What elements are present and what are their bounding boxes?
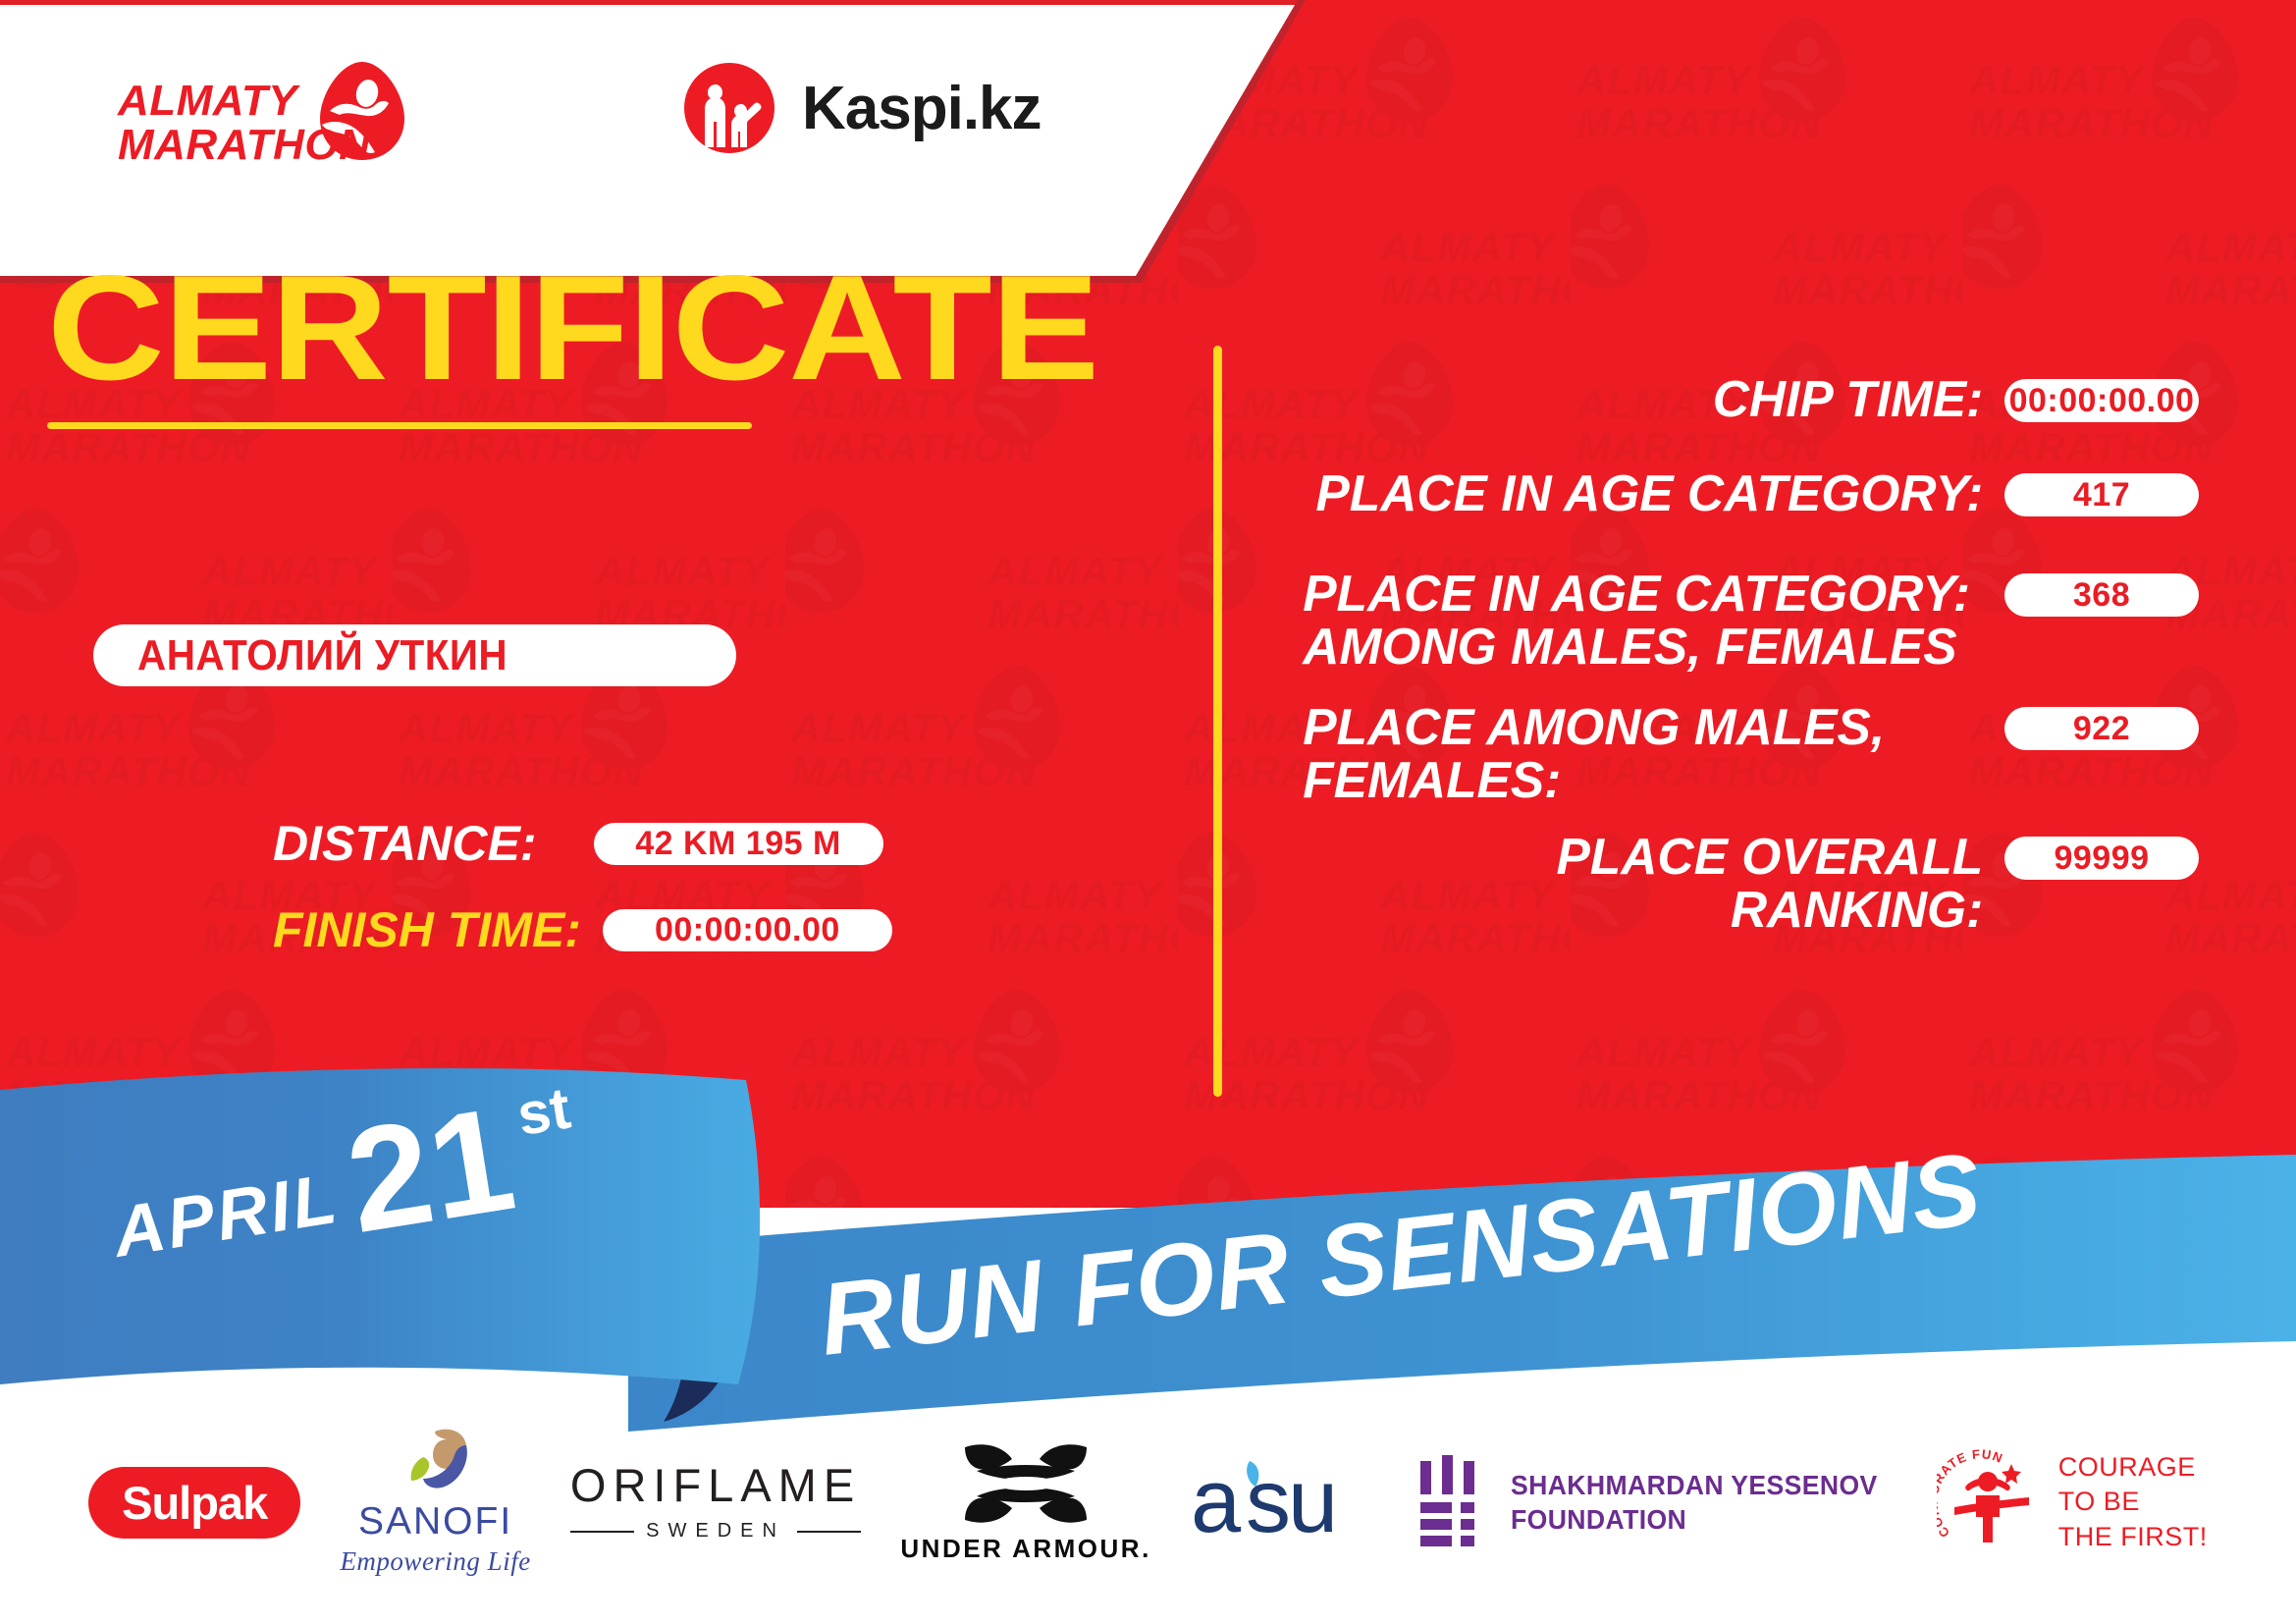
stat-label-line: PLACE IN AGE CATEGORY: [1303,568,1983,621]
stat-value: 417 [2004,473,2199,516]
stat-value: 922 [2004,707,2199,750]
sponsor-sulpak: Sulpak [88,1467,300,1539]
svg-text:a: a [1191,1455,1242,1549]
sanofi-tagline: Empowering Life [340,1546,530,1577]
stat-row: PLACE IN AGE CATEGORY:AMONG MALES, FEMAL… [1296,568,2199,674]
finish-time-value: 00:00:00.00 [603,909,892,951]
sulpak-label: Sulpak [88,1467,300,1539]
kaspi-label: Kaspi.kz [802,74,1041,143]
yessenov-bars-icon [1416,1455,1485,1549]
finish-time-row: FINISH TIME: 00:00:00.00 [273,901,892,958]
stat-label-line: FEMALES: [1303,754,1983,807]
sponsor-strip: Sulpak SANOFI Empowering Life ORIFLAME S… [0,1404,2296,1600]
left-column: CERTIFICATE АНАТОЛИЙ УТКИН DISTANCE: 42 … [0,283,1207,1208]
courage-line2: TO BE [2058,1485,2208,1519]
kaspi-logo[interactable]: Kaspi.kz [682,61,1041,155]
stat-row: PLACE IN AGE CATEGORY:417 [1296,467,2199,520]
kaspi-people-circle-icon [682,61,776,155]
courage-label: COURAGE TO BE THE FIRST! [2058,1450,2208,1553]
courage-line1: COURAGE [2058,1450,2208,1485]
oriflame-label: ORIFLAME [570,1462,861,1508]
sponsor-under-armour: UNDER ARMOUR. [900,1441,1150,1564]
stat-label-line: PLACE OVERALL RANKING: [1303,831,1983,937]
page-title: CERTIFICATE [47,253,1098,403]
svg-text:su: su [1246,1455,1335,1549]
ribbon-fold [664,1255,736,1422]
corporate-fund-arc-label: CORPORATE FUND [1937,1448,2005,1541]
under-armour-label: UNDER ARMOUR. [900,1534,1150,1564]
yessenov-label-line1: SHAKHMARDAN YESSENOV [1511,1468,1878,1502]
stat-label: PLACE AMONG MALES,FEMALES: [1303,701,2004,807]
almaty-logo-line1: ALMATY [118,80,370,124]
almaty-marathon-logo: ALMATY MARATHON [118,54,432,172]
yessenov-label: SHAKHMARDAN YESSENOV FOUNDATION [1511,1468,1878,1537]
svg-text:CORPORATE FUND: CORPORATE FUND [1937,1448,2005,1541]
stat-label-line: AMONG MALES, FEMALES [1303,621,1983,674]
sponsor-oriflame: ORIFLAME SWEDEN [570,1462,861,1543]
stat-label: CHIP TIME: [1303,373,2004,426]
distance-row: DISTANCE: 42 KM 195 M [273,815,883,872]
oriflame-sub-label: SWEDEN [634,1520,797,1543]
stat-label-line: PLACE AMONG MALES, [1303,701,1983,754]
courage-fund-icon: CORPORATE FUND [1937,1448,2045,1556]
stat-value: 00:00:00.00 [2004,379,2199,422]
oriflame-rule-right [797,1531,861,1533]
asu-logo-icon: a su [1191,1455,1377,1549]
stat-label-line: PLACE IN AGE CATEGORY: [1303,467,1983,520]
stat-row: PLACE AMONG MALES,FEMALES:922 [1296,701,2199,807]
oriflame-rule-left [570,1531,634,1533]
stat-row: CHIP TIME:00:00:00.00 [1296,373,2199,426]
yessenov-label-line2: FOUNDATION [1511,1502,1878,1537]
sponsor-yessenov-foundation: SHAKHMARDAN YESSENOV FOUNDATION [1416,1455,1896,1549]
sanofi-mark-icon [394,1428,478,1498]
distance-label: DISTANCE: [273,815,537,872]
runner-name-value: АНАТОЛИЙ УТКИН [137,631,507,680]
stat-label-line: CHIP TIME: [1303,373,1983,426]
stat-label: PLACE OVERALL RANKING: [1303,831,2004,937]
under-armour-icon [957,1441,1095,1526]
title-underline [47,422,752,429]
finish-time-label: FINISH TIME: [273,901,581,958]
stat-label: PLACE IN AGE CATEGORY: [1303,467,2004,520]
stat-value: 368 [2004,573,2199,617]
runner-name-field: АНАТОЛИЙ УТКИН [93,624,736,686]
distance-value: 42 KM 195 M [594,823,883,865]
stat-label: PLACE IN AGE CATEGORY:AMONG MALES, FEMAL… [1303,568,2004,674]
column-divider [1213,346,1222,1097]
sponsor-sanofi: SANOFI Empowering Life [340,1428,530,1577]
sponsor-courage-fund: CORPORATE FUND COURAGE TO BE THE FIRST! [1937,1448,2208,1556]
almaty-logo-line2: MARATHON [118,124,370,168]
sanofi-label: SANOFI [358,1502,512,1541]
stat-row: PLACE OVERALL RANKING:99999 [1296,831,2199,937]
oriflame-sub-row: SWEDEN [570,1520,861,1543]
courage-line3: THE FIRST! [2058,1520,2208,1554]
stat-value: 99999 [2004,837,2199,880]
sponsor-asu: a su [1191,1455,1377,1549]
certificate-canvas: ALMATY MARATHON Kaspi.kz CERTIFICATE АНА… [0,0,2296,1624]
